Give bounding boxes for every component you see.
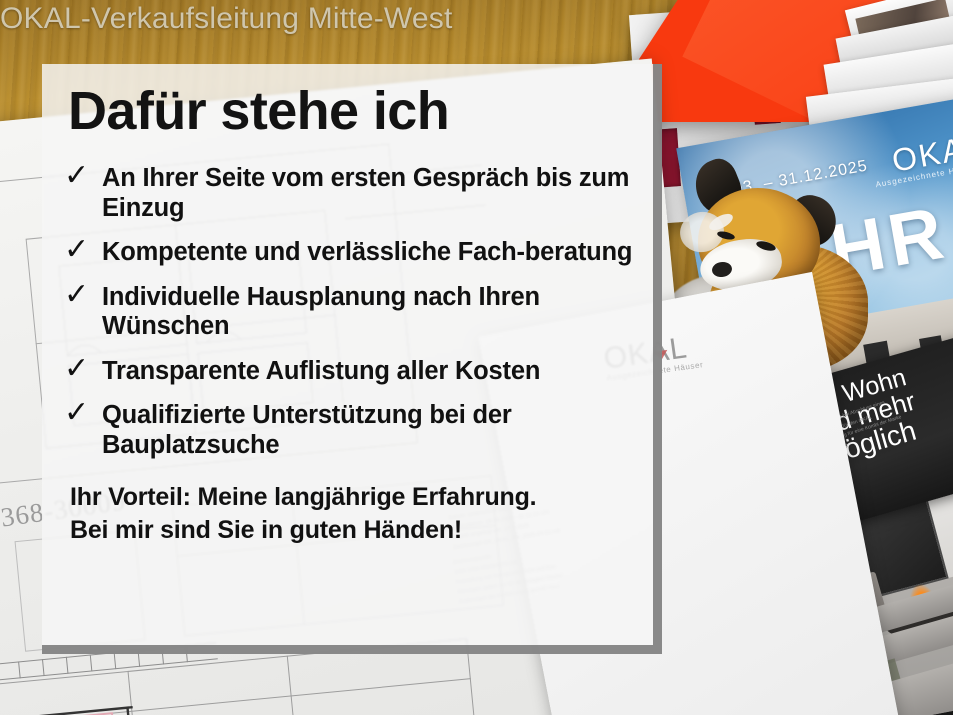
list-item-label: Transparente Auflistung aller Kosten <box>102 357 540 387</box>
list-item: ✓ An Ihrer Seite vom ersten Gespräch bis… <box>64 164 635 223</box>
check-icon: ✓ <box>64 281 102 310</box>
list-item-label: Qualifizierte Unterstützung bei der Baup… <box>102 401 635 460</box>
check-icon: ✓ <box>64 162 102 191</box>
list-item: ✓ Qualifizierte Unterstützung bei der Ba… <box>64 401 635 460</box>
list-item-label: Kompetente und verlässliche Fach-beratun… <box>102 238 632 268</box>
check-icon: ✓ <box>64 236 102 265</box>
closing-line-1: Ihr Vorteil: Meine langjährige Erfahrung… <box>70 481 635 515</box>
page-title: OKAL-Verkaufsleitung Mitte-West <box>0 2 453 36</box>
list-item-label: Individuelle Hausplanung nach Ihren Wüns… <box>102 283 635 342</box>
benefits-list: ✓ An Ihrer Seite vom ersten Gespräch bis… <box>64 164 635 461</box>
content-panel: Dafür stehe ich ✓ An Ihrer Seite vom ers… <box>42 64 662 654</box>
check-icon: ✓ <box>64 355 102 384</box>
closing-line-2: Bei mir sind Sie in guten Händen! <box>70 514 635 548</box>
panel-headline: Dafür stehe ich <box>68 84 635 138</box>
slide-canvas: OKAL Ausgezeichnete Häuser 15.03. – 31.1… <box>0 0 953 715</box>
list-item: ✓ Kompetente und verlässliche Fach-berat… <box>64 238 635 268</box>
list-item: ✓ Transparente Auflistung aller Kosten <box>64 357 635 387</box>
list-item-label: An Ihrer Seite vom ersten Gespräch bis z… <box>102 164 635 223</box>
list-item: ✓ Individuelle Hausplanung nach Ihren Wü… <box>64 283 635 342</box>
check-icon: ✓ <box>64 399 102 428</box>
closing-statement: Ihr Vorteil: Meine langjährige Erfahrung… <box>70 481 635 549</box>
